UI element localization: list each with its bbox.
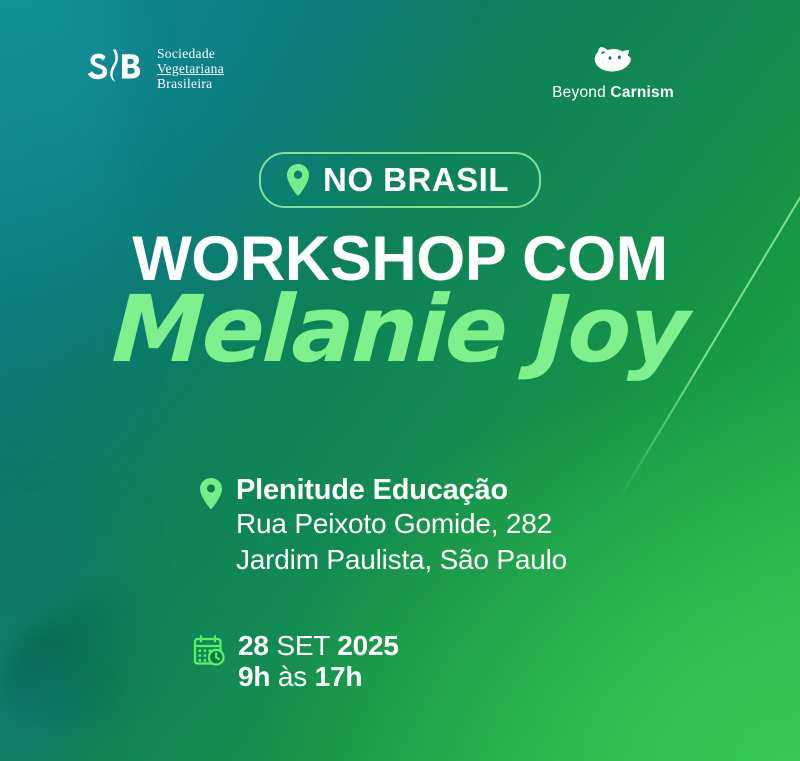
event-year: 2025: [337, 630, 399, 661]
svb-wordmark: Sociedade Vegetariana Brasileira: [157, 46, 224, 91]
bc-word-light: Beyond: [552, 84, 610, 101]
calendar-clock-icon: [192, 633, 226, 667]
svb-word-line1: Sociedade: [157, 46, 224, 61]
background-blur-blob: [0, 501, 200, 761]
animal-face-icon: [590, 44, 636, 78]
page-title-speaker: Melanie Joy: [0, 284, 800, 376]
background-leaf-shape: [0, 570, 218, 751]
svb-word-line3: Brasileira: [157, 76, 224, 91]
logo-sociedade-vegetariana-brasileira: Sociedade Vegetariana Brasileira: [88, 46, 224, 91]
venue-address-line-1: Rua Peixoto Gomide, 282: [236, 506, 567, 542]
schedule-text: 28 SET 2025 9h às 17h: [238, 630, 399, 693]
event-poster: Sociedade Vegetariana Brasileira Beyond …: [0, 0, 800, 761]
location-badge: NO BRASIL: [259, 152, 541, 208]
logo-beyond-carnism: Beyond Carnism: [546, 44, 680, 102]
badge-label: NO BRASIL: [323, 163, 509, 196]
background-leaf-shape-secondary: [0, 660, 105, 761]
event-month: SET: [276, 630, 329, 661]
event-time-start: 9h: [238, 661, 270, 692]
svb-word-line2: Vegetariana: [157, 61, 224, 76]
map-pin-icon: [286, 164, 310, 196]
event-time-end: 17h: [315, 661, 363, 692]
event-time-separator: às: [278, 661, 307, 692]
event-date: 28 SET 2025: [238, 630, 399, 661]
venue-text: Plenitude Educação Rua Peixoto Gomide, 2…: [236, 474, 567, 578]
beyond-carnism-wordmark: Beyond Carnism: [546, 84, 680, 102]
map-pin-icon: [199, 478, 223, 509]
event-time: 9h às 17h: [238, 661, 399, 692]
venue-name: Plenitude Educação: [236, 474, 567, 506]
event-day: 28: [238, 630, 269, 661]
schedule-block: 28 SET 2025 9h às 17h: [192, 630, 399, 693]
bc-word-bold: Carnism: [610, 84, 673, 101]
venue-block: Plenitude Educação Rua Peixoto Gomide, 2…: [199, 474, 567, 578]
svb-monogram-icon: [88, 48, 148, 90]
venue-address-line-2: Jardim Paulista, São Paulo: [236, 542, 567, 578]
